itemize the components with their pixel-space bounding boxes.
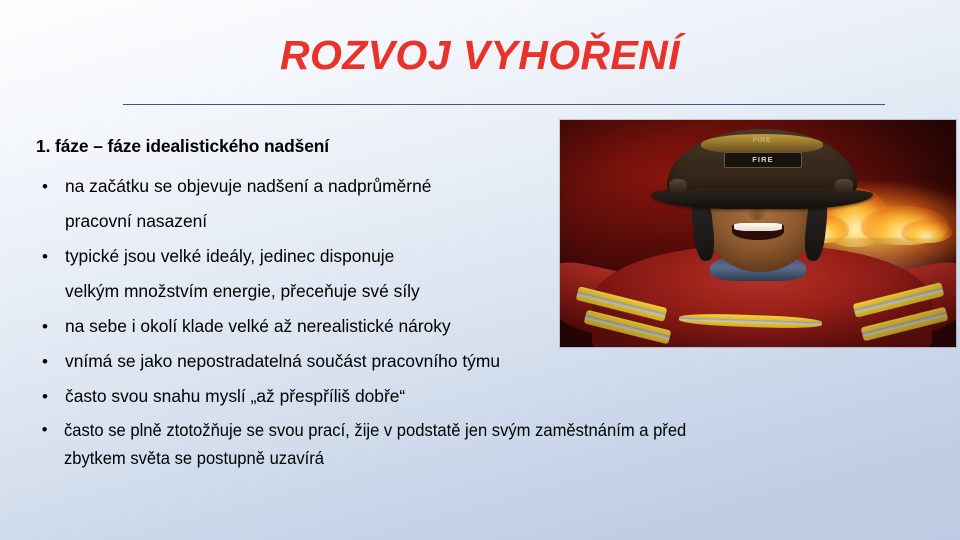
- slide-canvas: ROZVOJ VYHOŘENÍ 1. fáze – fáze idealisti…: [0, 0, 960, 540]
- helmet-fitting-right: [835, 179, 853, 193]
- bullet-marker-icon: •: [42, 239, 48, 274]
- bullet-marker-icon: •: [42, 379, 48, 414]
- bullet-marker-icon: •: [42, 416, 48, 444]
- helmet-badge-top-text: FIRE: [718, 137, 805, 151]
- bullet-marker-icon: •: [42, 309, 48, 344]
- list-item-line: často se plně ztotožňuje se svou prací, …: [64, 416, 944, 444]
- helmet-fitting-left: [669, 179, 687, 193]
- bullet-marker-icon: •: [42, 344, 48, 379]
- list-item: • často svou snahu myslí „až přespříliš …: [36, 379, 916, 414]
- firefighter-figure: FIRE FIRE: [560, 120, 956, 347]
- list-item: • často se plně ztotožňuje se svou prací…: [36, 416, 944, 472]
- helmet-fire-badge-label: FIRE: [752, 156, 773, 164]
- title-divider: [123, 104, 885, 105]
- helmet-fire-badge: FIRE: [724, 152, 801, 169]
- title-block: ROZVOJ VYHOŘENÍ: [0, 34, 960, 77]
- firefighter-photo: FIRE FIRE: [560, 120, 956, 347]
- list-item-line: vnímá se jako nepostradatelná součást pr…: [65, 344, 916, 379]
- list-item: • vnímá se jako nepostradatelná součást …: [36, 344, 916, 379]
- bullet-marker-icon: •: [42, 169, 48, 204]
- teeth: [734, 223, 781, 231]
- list-item-line: zbytkem světa se postupně uzavírá: [64, 444, 944, 472]
- list-item-line: často svou snahu myslí „až přespříliš do…: [65, 379, 916, 414]
- page-title: ROZVOJ VYHOŘENÍ: [280, 34, 680, 77]
